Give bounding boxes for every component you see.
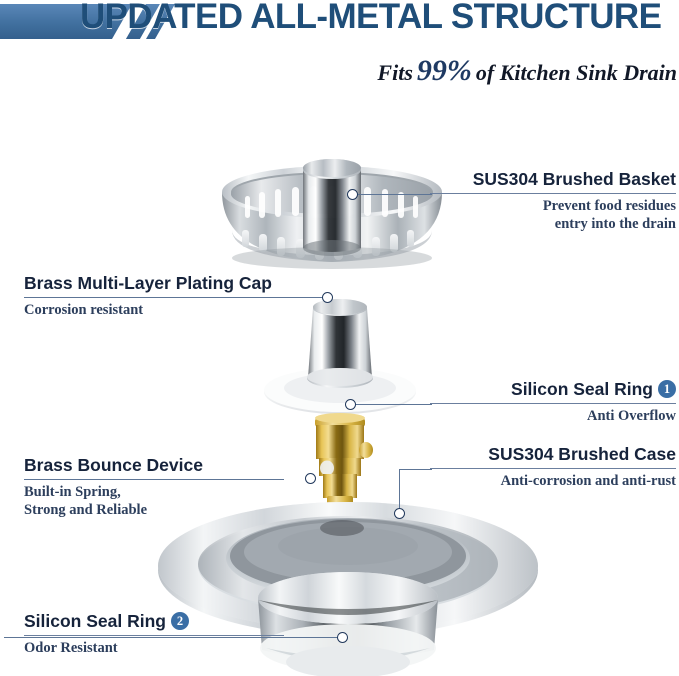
callout-sus304-brushed-case: SUS304 Brushed Case Anti-corrosion and a…: [430, 443, 676, 490]
callout-sub-line1: Built-in Spring,: [24, 483, 284, 501]
callout-silicon-seal-ring-1: Silicon Seal Ring1 Anti Overflow: [430, 378, 676, 425]
leader-line-basket: [357, 194, 432, 195]
callout-sub-line2: Strong and Reliable: [24, 501, 284, 519]
callout-brass-bounce-device: Brass Bounce Device Built-in Spring, Str…: [24, 454, 284, 519]
callout-title-text: Silicon Seal Ring: [24, 611, 166, 631]
seal-ring-1-badge: 1: [658, 380, 676, 398]
bounce-device-art: [315, 413, 373, 516]
leader-line-bounce: [24, 479, 284, 480]
callout-silicon-seal-ring-2: Silicon Seal Ring2 Odor Resistant: [24, 610, 284, 657]
callout-rule: [430, 468, 676, 469]
connector-dot-seal-2: [337, 632, 348, 643]
callout-rule: [430, 403, 676, 404]
callout-sub-line1: Odor Resistant: [24, 639, 284, 657]
connector-dot-basket: [347, 189, 358, 200]
callout-sub-line1: Anti-corrosion and anti-rust: [430, 472, 676, 490]
callout-title-text: Silicon Seal Ring: [511, 379, 653, 399]
leader-line-cap: [24, 297, 324, 298]
callout-title: Brass Bounce Device: [24, 454, 284, 476]
seal-ring-2-badge: 2: [171, 612, 189, 630]
callout-title: Silicon Seal Ring1: [430, 378, 676, 400]
callout-sub-line1: Prevent food residues: [430, 197, 676, 215]
callout-sub-line1: Corrosion resistant: [24, 301, 314, 319]
callout-sus304-brushed-basket: SUS304 Brushed Basket Prevent food resid…: [430, 168, 676, 233]
callout-title: Silicon Seal Ring2: [24, 610, 284, 632]
product-exploded-view: [0, 0, 679, 676]
leader-line-case-v: [399, 469, 400, 513]
callout-rule: [24, 635, 284, 636]
callout-brass-multi-layer-plating-cap: Brass Multi-Layer Plating Cap Corrosion …: [24, 272, 314, 319]
callout-rule: [430, 193, 676, 194]
connector-dot-cap: [322, 292, 333, 303]
callout-title: Brass Multi-Layer Plating Cap: [24, 272, 314, 294]
callout-title: SUS304 Brushed Case: [430, 443, 676, 465]
callout-sub-line2: entry into the drain: [430, 215, 676, 233]
strainer-basket-art: [222, 159, 442, 269]
connector-dot-case: [394, 508, 405, 519]
leader-line-seal-1: [355, 404, 432, 405]
leader-line-case-h: [399, 469, 432, 470]
callout-sub-line1: Anti Overflow: [430, 407, 676, 425]
callout-title: SUS304 Brushed Basket: [430, 168, 676, 190]
connector-dot-seal-1: [345, 399, 356, 410]
connector-dot-bounce: [305, 473, 316, 484]
leader-line-seal-2: [4, 637, 342, 638]
